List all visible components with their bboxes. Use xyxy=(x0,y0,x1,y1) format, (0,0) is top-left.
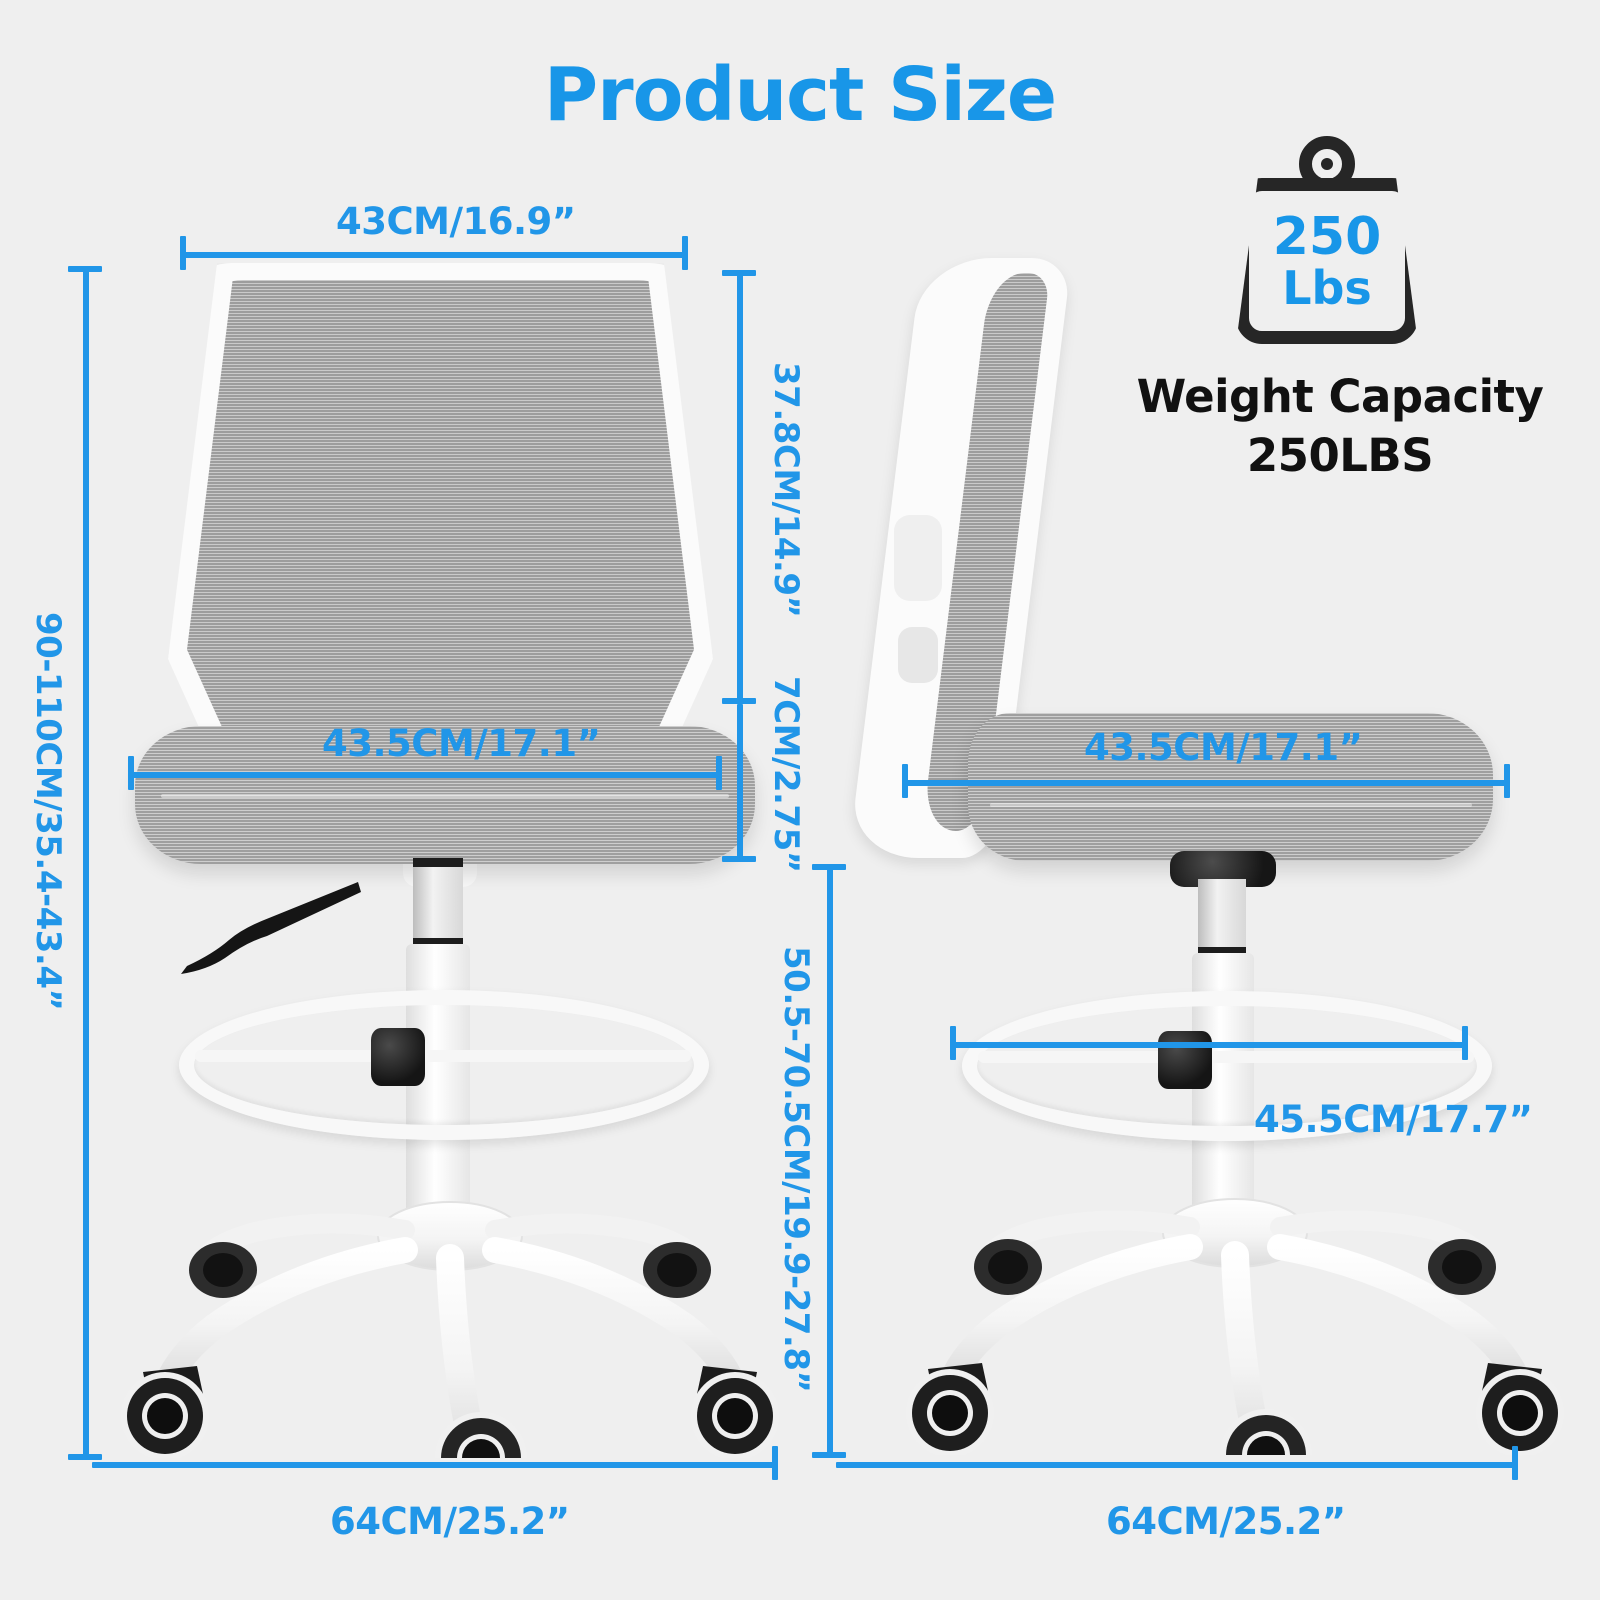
backrest-notch-lower xyxy=(898,627,938,683)
dim-cap-overall-height-top xyxy=(68,266,102,272)
dim-cap-seat-height-top xyxy=(812,864,846,870)
side-view-chair xyxy=(880,255,1500,1440)
dim-line-footring-diameter xyxy=(954,1042,1466,1048)
five-star-base-side xyxy=(890,1155,1580,1455)
dim-label-base-width-side: 64CM/25.2” xyxy=(1106,1500,1346,1543)
dim-line-seat-height xyxy=(827,866,833,1458)
height-adjust-lever xyxy=(173,878,363,978)
seat-seam xyxy=(161,794,729,798)
dim-cap-seat-width-right xyxy=(716,756,722,790)
dim-line-backrest-height xyxy=(737,272,743,702)
dim-line-seat-depth xyxy=(906,780,1508,786)
footring-spoke-side xyxy=(978,1051,1474,1063)
dim-label-seat-width: 43.5CM/17.1” xyxy=(322,722,600,765)
front-view-chair xyxy=(135,258,755,1438)
dim-cap-seat-depth-left xyxy=(902,764,908,798)
dim-label-seat-height: 50.5-70.5CM/19.9-27.8” xyxy=(776,946,816,1392)
dim-cap-base-width-front-right xyxy=(772,1446,778,1480)
footring-knob xyxy=(371,1028,425,1086)
gas-cylinder-side xyxy=(1198,879,1246,955)
dim-cap-base-width-side-right xyxy=(1512,1446,1518,1480)
footring xyxy=(179,990,709,1140)
dim-line-base-width-front xyxy=(92,1462,776,1468)
footring-knob-side xyxy=(1158,1031,1212,1089)
dim-cap-overall-height-bottom xyxy=(68,1454,102,1460)
dim-cap-seat-width-left xyxy=(128,756,134,790)
dim-label-footring-diameter: 45.5CM/17.7” xyxy=(1254,1098,1532,1141)
dim-cap-seat-thickness-bottom xyxy=(722,856,756,862)
dim-label-base-width-front: 64CM/25.2” xyxy=(330,1500,570,1543)
backrest-notch-upper xyxy=(894,515,942,601)
dim-cap-footring-right xyxy=(1462,1026,1468,1060)
dim-cap-backrest-height-top xyxy=(722,270,756,276)
dim-cap-seat-depth-right xyxy=(1504,764,1510,798)
page-title: Product Size xyxy=(0,52,1600,138)
infographic-canvas: Product Size 250 Lbs Weight Capacity 250… xyxy=(0,0,1600,1600)
dim-cap-backrest-width-right xyxy=(682,236,688,270)
footring-spoke xyxy=(195,1050,691,1062)
dim-label-overall-height: 90-110CM/35.4-43.4” xyxy=(28,612,68,1010)
dim-line-overall-height xyxy=(83,268,89,1460)
dim-cap-backrest-width-left xyxy=(180,236,186,270)
dim-line-seat-width xyxy=(132,772,720,778)
dim-label-seat-thickness: 7CM/2.75” xyxy=(766,676,806,873)
five-star-base xyxy=(105,1158,795,1458)
dim-label-backrest-width: 43CM/16.9” xyxy=(336,200,576,243)
dim-cap-footring-left xyxy=(950,1026,956,1060)
dim-line-base-width-side xyxy=(836,1462,1516,1468)
gas-cylinder xyxy=(413,858,463,946)
seat-seam-side xyxy=(990,803,1472,807)
weight-handle-dot xyxy=(1321,158,1333,170)
dim-line-backrest-width xyxy=(182,252,688,258)
dim-label-backrest-height: 37.8CM/14.9” xyxy=(766,362,806,617)
dim-label-seat-depth: 43.5CM/17.1” xyxy=(1084,726,1362,769)
dim-cap-seat-height-bottom xyxy=(812,1452,846,1458)
dim-line-seat-thickness xyxy=(737,704,743,860)
